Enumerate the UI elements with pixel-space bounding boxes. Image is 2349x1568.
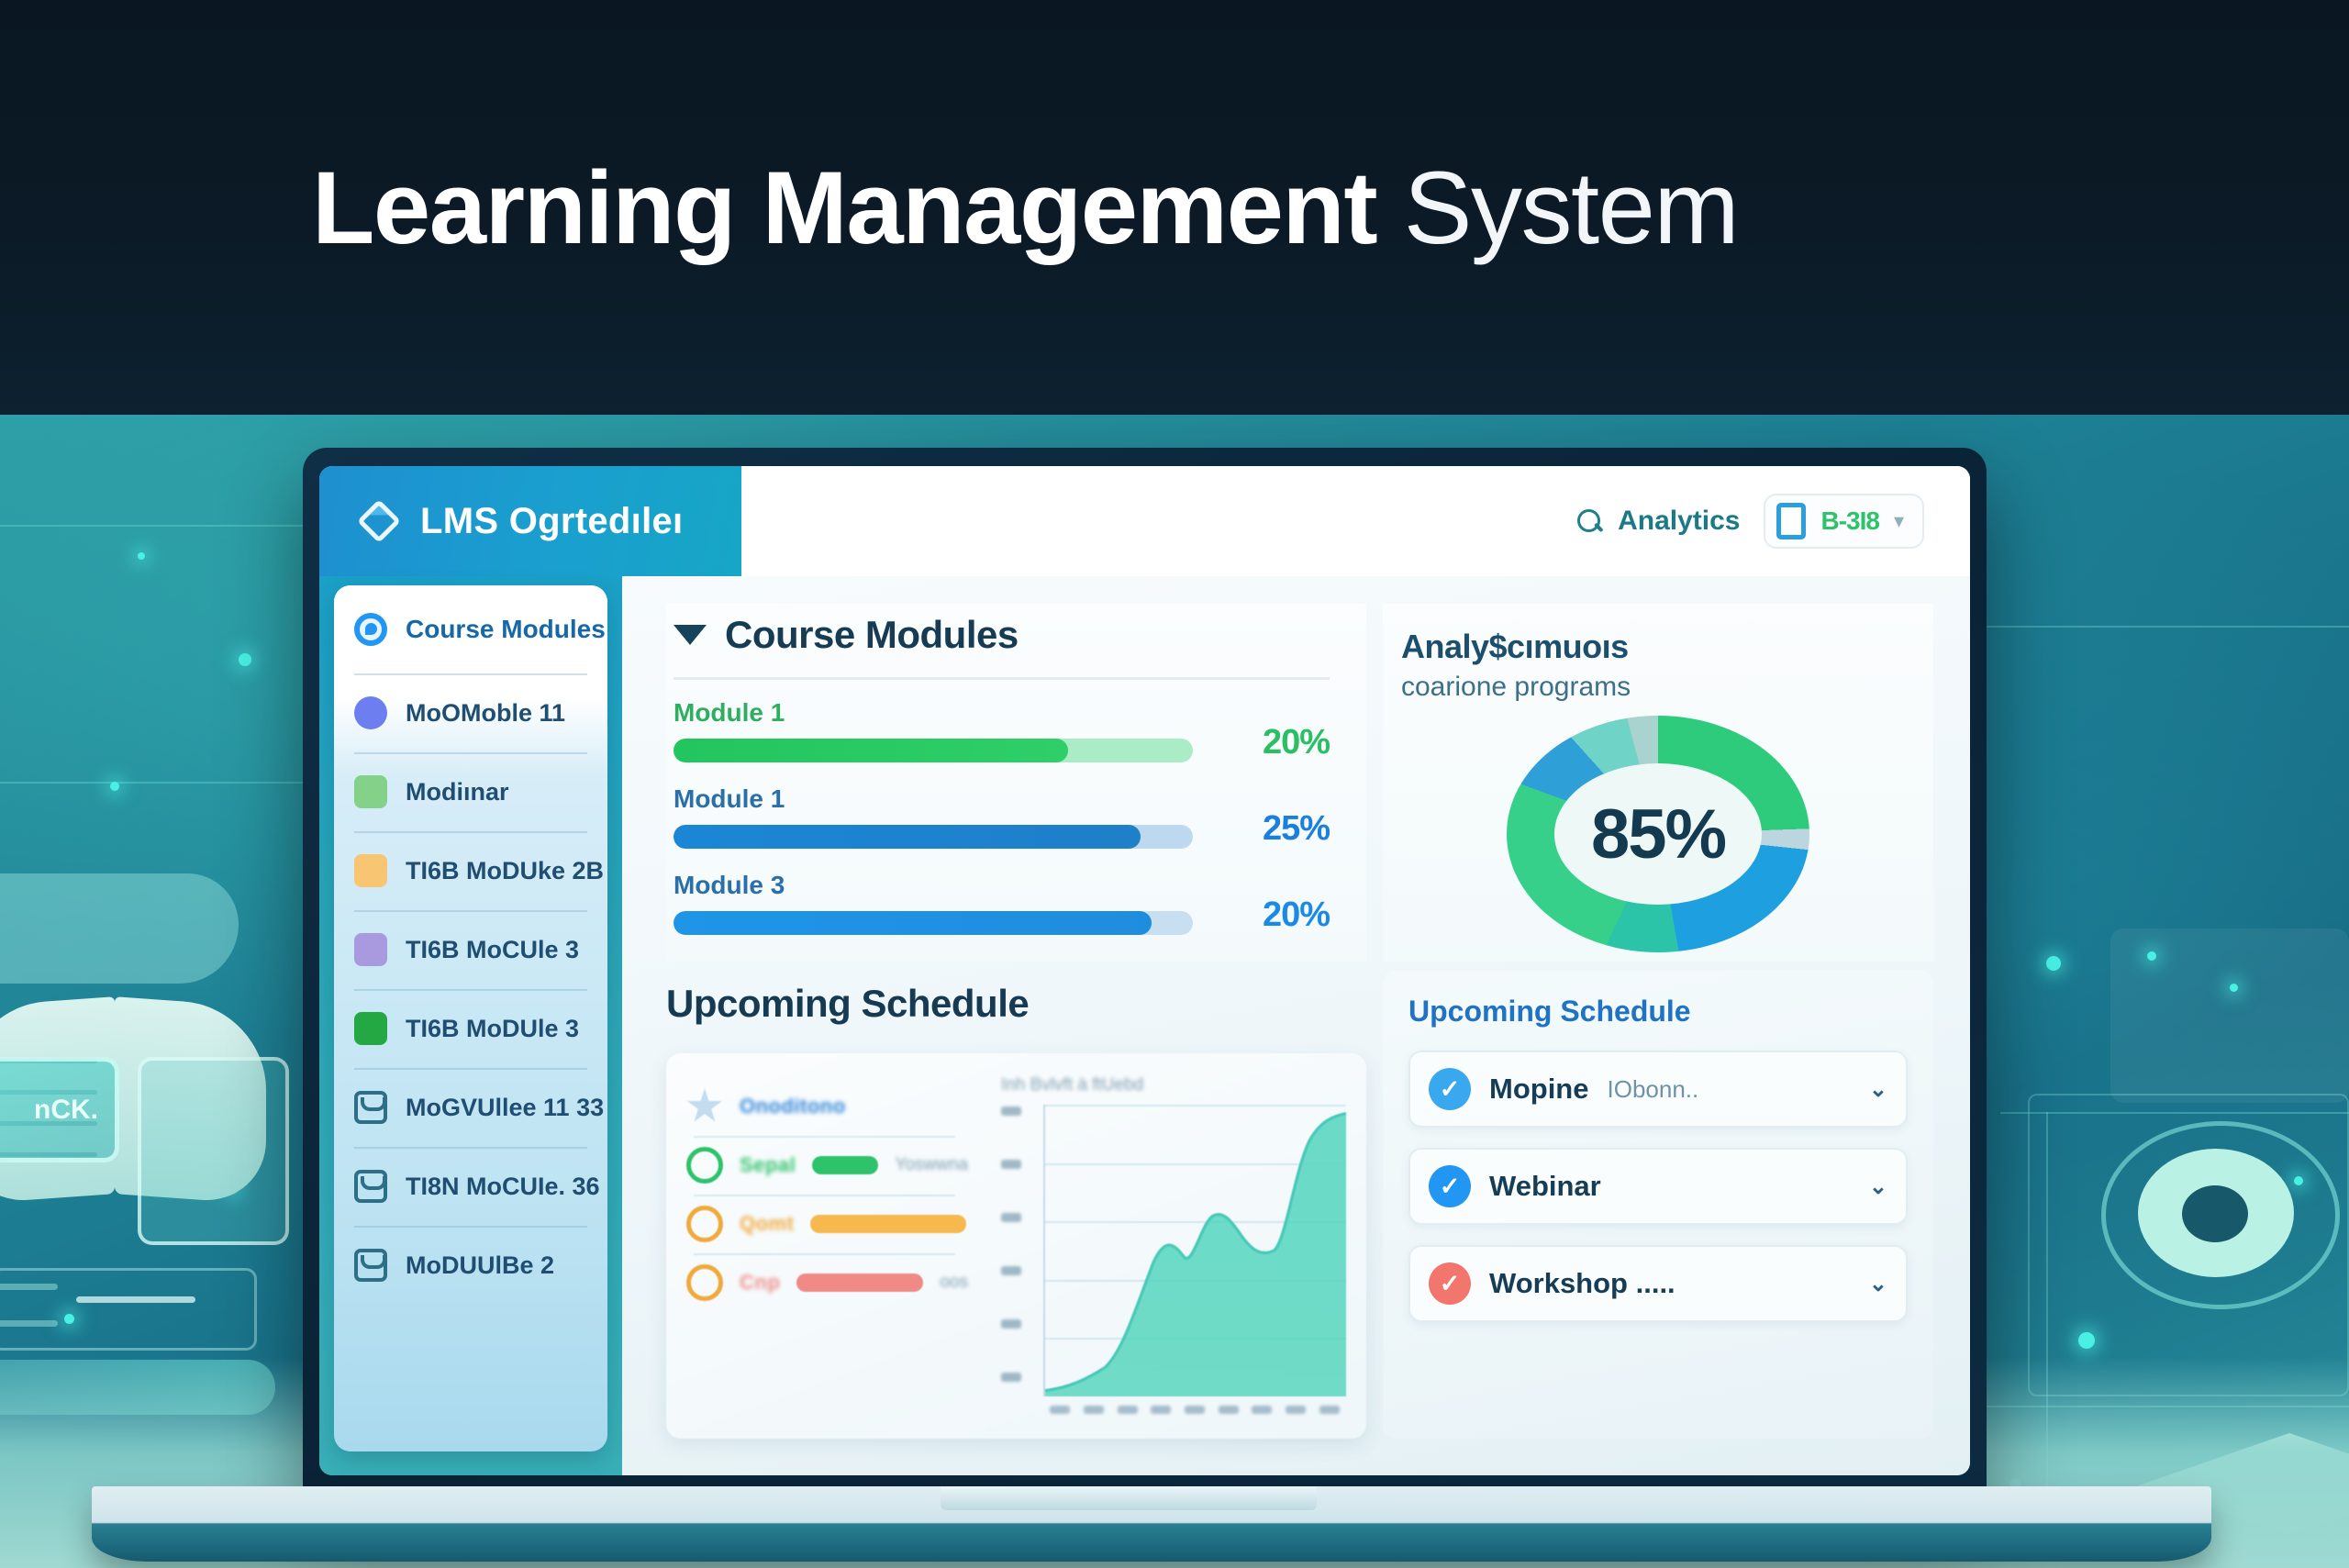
y-tick	[1001, 1373, 1021, 1382]
x-tick	[1050, 1406, 1070, 1414]
x-tick	[1151, 1406, 1171, 1414]
app-screen: LMS Ogrtedıleı Analytics B-3I8 ▾	[319, 466, 1970, 1475]
circuit-line	[1945, 626, 2349, 628]
app-header: LMS Ogrtedıleı Analytics B-3I8 ▾	[319, 466, 1970, 576]
glow-dot	[239, 653, 251, 666]
check-circle-icon: ✓	[1429, 1165, 1471, 1207]
progress-track	[674, 911, 1193, 935]
sidebar-item-label: Modiınar	[406, 778, 509, 806]
chart-square-icon	[354, 775, 387, 808]
schedule-list: Onoditono Sepal Yoswwna	[666, 1053, 988, 1439]
target-icon	[354, 613, 387, 646]
heading-light: System	[1404, 150, 1738, 265]
panel-title: Upcoming Schedule	[1408, 995, 1908, 1029]
sidebar-item-5[interactable]: TI6B MoCUle 3	[334, 910, 607, 989]
x-tick	[1185, 1406, 1205, 1414]
sidebar-item-course-modules[interactable]: Course Modules	[334, 585, 607, 673]
progress-percent: 25%	[1224, 809, 1330, 849]
progress-row: Module 3 20%	[674, 871, 1330, 935]
search-icon[interactable]	[1575, 507, 1603, 535]
sidebar-item-label: MoGVUllee 11 33	[406, 1094, 604, 1122]
glow-dot	[2046, 956, 2061, 971]
analytics-subtitle: coarione programs	[1392, 672, 1631, 703]
app-title: LMS Ogrtedıleı	[420, 501, 683, 542]
target-ring-core	[2182, 1185, 2248, 1242]
check-circle-icon	[686, 1147, 723, 1184]
globe-check-icon: ✓	[1429, 1068, 1471, 1110]
brand-bar: LMS Ogrtedıleı	[319, 466, 741, 576]
screenshot-root: nCK. LMS Ogrtedıleı	[0, 0, 2349, 1568]
progress-label: Module 3	[674, 871, 1193, 900]
list-item[interactable]: Cnp oos	[686, 1253, 968, 1312]
top-toolbar: Analytics B-3I8 ▾	[741, 466, 1970, 576]
book-card-shape	[138, 1057, 289, 1245]
sidebar-item-label: TI6B MoDUke 2B	[406, 857, 604, 885]
y-axis	[1001, 1105, 1043, 1396]
status-square-icon	[354, 854, 387, 887]
alert-circle-icon	[686, 1264, 723, 1301]
engagement-area-chart: Inh Bvlvft à ftUebd	[988, 1053, 1366, 1439]
course-modules-card: Course Modules Module 1	[666, 604, 1366, 962]
list-item-label: Cnp	[740, 1271, 780, 1295]
report-badge-button[interactable]: B-3I8 ▾	[1764, 494, 1924, 549]
sidebar-item-9[interactable]: MoDUUlBe 2	[334, 1226, 607, 1305]
sidebar: Course Modules MoOMoble 11 Modiınar	[319, 576, 622, 1475]
section-title: Upcoming Schedule	[666, 982, 1366, 1026]
upcoming-schedule-section: Upcoming Schedule Onoditono	[622, 971, 1383, 1475]
bottom-row: Upcoming Schedule Onoditono	[622, 971, 1970, 1475]
plot	[1043, 1105, 1346, 1396]
chevron-down-icon[interactable]: ⌄	[1869, 1173, 1887, 1200]
list-item-bar	[810, 1215, 966, 1233]
analytics-label: Analytics	[1618, 506, 1740, 537]
page-heading: Learning Management System	[312, 154, 1738, 262]
sidebar-item-label: Course Modules	[406, 615, 606, 644]
glow-dot	[138, 552, 145, 560]
app-body: Course Modules MoOMoble 11 Modiınar	[319, 576, 1970, 1475]
title-band: Learning Management System	[0, 0, 2349, 415]
chevron-down-icon[interactable]: ⌄	[1869, 1271, 1887, 1297]
donut-center-value: 85%	[1591, 795, 1725, 874]
sidebar-card: Course Modules MoOMoble 11 Modiınar	[334, 585, 607, 1451]
star-icon	[686, 1088, 723, 1125]
area-series	[1045, 1105, 1346, 1396]
progress-fill	[674, 739, 1068, 762]
sidebar-item-label: TI6B MoDUle 3	[406, 1015, 579, 1043]
list-item-meta: Yoswwna	[895, 1155, 968, 1175]
y-tick	[1001, 1266, 1021, 1275]
glow-dot	[2078, 1332, 2095, 1349]
top-row: Course Modules Module 1	[622, 576, 1970, 971]
sidebar-item-2[interactable]: MoOMoble 11	[334, 673, 607, 752]
schedule-item-workshop[interactable]: ✓ Workshop ..... ⌄	[1408, 1245, 1908, 1322]
list-item[interactable]: Onoditono	[686, 1077, 968, 1136]
progress-fill	[674, 825, 1141, 849]
y-tick	[1001, 1213, 1021, 1222]
chevron-down-icon[interactable]: ▾	[1894, 509, 1904, 533]
sidebar-item-4[interactable]: TI6B MoDUke 2B	[334, 831, 607, 910]
analytics-title: Analy$cımuoıs	[1392, 628, 1629, 666]
book-lines-shape	[0, 1268, 257, 1351]
schedule-item-label: Workshop .....	[1489, 1267, 1675, 1300]
schedule-card: Onoditono Sepal Yoswwna	[666, 1053, 1366, 1439]
schedule-item-meta: IObonn..	[1608, 1075, 1851, 1104]
laptop-trackpad-notch	[941, 1486, 1317, 1510]
list-item-bar	[812, 1156, 878, 1174]
sidebar-item-label: TI6B MoCUle 3	[406, 936, 579, 964]
analytics-card: Analy$cımuoıs coarione programs 85%	[1383, 604, 1933, 962]
glow-dot	[2147, 951, 2156, 961]
list-item[interactable]: Sepal Yoswwna	[686, 1136, 968, 1195]
sidebar-item-8[interactable]: TI8N MoCUIe. 36	[334, 1147, 607, 1226]
chart-plot-area	[1001, 1105, 1346, 1396]
list-item-label: Sepal	[740, 1153, 796, 1177]
laptop-lid: LMS Ogrtedıleı Analytics B-3I8 ▾	[303, 448, 1987, 1497]
status-square-icon	[354, 933, 387, 966]
document-icon	[1776, 503, 1806, 539]
schedule-item-mopine[interactable]: ✓ Mopine IObonn.. ⌄	[1408, 1051, 1908, 1128]
list-item-meta: oos	[940, 1273, 968, 1293]
x-tick	[1118, 1406, 1138, 1414]
list-item[interactable]: Qomt	[686, 1195, 968, 1253]
envelope-icon	[354, 1249, 387, 1282]
divider	[674, 677, 1330, 680]
x-tick	[1252, 1406, 1272, 1414]
heading-strong: Learning Management	[312, 150, 1376, 265]
progress-track	[674, 825, 1193, 849]
list-item-label: Qomt	[740, 1212, 794, 1236]
background-blob	[0, 873, 239, 984]
list-item-label: Onoditono	[740, 1095, 846, 1118]
sidebar-item-label: MoDUUlBe 2	[406, 1251, 554, 1280]
donut-hole: 85%	[1554, 763, 1762, 905]
x-tick	[1286, 1406, 1306, 1414]
diamond-icon	[358, 500, 400, 542]
clock-circle-icon	[686, 1206, 723, 1242]
page-title: Course Modules	[725, 613, 1019, 657]
envelope-icon	[354, 1170, 387, 1203]
progress-label: Module 1	[674, 784, 1193, 814]
status-dot-icon	[354, 696, 387, 729]
schedule-item-webinar[interactable]: ✓ Webinar ⌄	[1408, 1148, 1908, 1225]
y-tick	[1001, 1106, 1021, 1116]
sidebar-item-6[interactable]: TI6B MoDUle 3	[334, 989, 607, 1068]
x-tick	[1219, 1406, 1239, 1414]
glow-dot	[110, 782, 119, 791]
upcoming-schedule-panel: Upcoming Schedule ✓ Mopine IObonn.. ⌄ ✓	[1383, 971, 1933, 1439]
sidebar-item-label: TI8N MoCUIe. 36	[406, 1173, 600, 1201]
x-tick	[1084, 1406, 1104, 1414]
progress-fill	[674, 911, 1152, 935]
progress-row: Module 1 25%	[674, 784, 1330, 849]
glow-dot	[2230, 984, 2238, 992]
y-tick	[1001, 1319, 1021, 1329]
sidebar-item-label: MoOMoble 11	[406, 699, 565, 728]
background-chip: nCK.	[0, 1057, 119, 1162]
progress-percent: 20%	[1224, 723, 1330, 762]
y-tick	[1001, 1160, 1021, 1169]
sidebar-item-7[interactable]: MoGVUllee 11 33	[334, 1068, 607, 1147]
main-content: Course Modules Module 1	[622, 576, 1970, 1475]
progress-label: Module 1	[674, 698, 1193, 728]
schedule-item-label: Mopine	[1489, 1073, 1589, 1106]
status-square-icon	[354, 1012, 387, 1045]
progress-percent: 20%	[1224, 895, 1330, 935]
chart-title: Inh Bvlvft à ftUebd	[1001, 1075, 1346, 1095]
status-badge: B-3I8	[1820, 506, 1878, 536]
analytics-search-button[interactable]: Analytics	[1575, 506, 1740, 537]
chevron-down-icon[interactable]: ⌄	[1869, 1076, 1887, 1103]
sidebar-item-3[interactable]: Modiınar	[334, 752, 607, 831]
x-axis	[1001, 1396, 1346, 1422]
triangle-down-icon[interactable]	[674, 625, 707, 645]
schedule-item-label: Webinar	[1489, 1170, 1601, 1203]
progress-row: Module 1 20%	[674, 698, 1330, 762]
completion-donut-chart: 85%	[1507, 716, 1809, 952]
laptop-bezel: LMS Ogrtedıleı Analytics B-3I8 ▾	[319, 466, 1970, 1475]
x-tick	[1319, 1406, 1340, 1414]
check-circle-icon: ✓	[1429, 1262, 1471, 1305]
course-modules-header[interactable]: Course Modules	[674, 613, 1330, 677]
progress-track	[674, 739, 1193, 762]
list-item-bar	[796, 1273, 923, 1292]
circuit-block	[2110, 929, 2349, 1103]
envelope-icon	[354, 1091, 387, 1124]
